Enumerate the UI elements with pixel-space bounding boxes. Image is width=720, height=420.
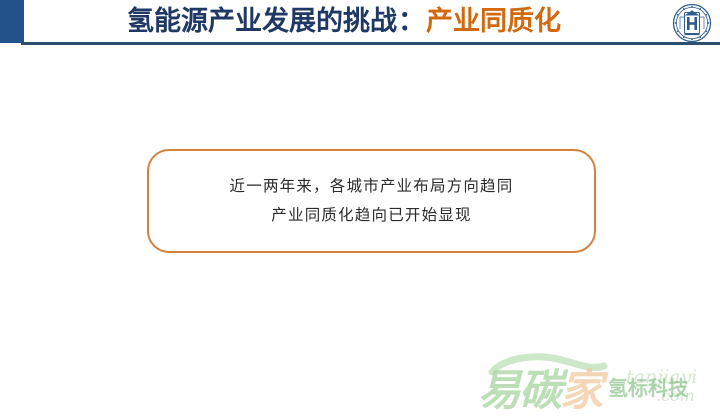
statement-line-2: 产业同质化趋向已开始显现 [271,201,471,230]
header-divider [21,42,720,45]
header-accent-block [0,0,24,43]
statement-line-1: 近一两年来，各城市产业布局方向趋同 [230,172,514,201]
watermark-domain-text: tanjiayi [626,366,697,388]
title-separator: ： [397,8,426,35]
page-title: 氢能源产业发展的挑战 ： 产业同质化 [24,0,664,42]
title-main-text: 氢能源产业发展的挑战 [127,8,397,35]
slide-canvas: 氢能源产业发展的挑战 ： 产业同质化 [0,0,720,420]
university-seal-logo [672,3,712,43]
watermark-domain-suffix: .com [656,386,695,405]
watermark-swoosh-icon [488,352,608,378]
watermark-brand-secondary: 氢标科技 [608,372,688,401]
title-accent-text: 产业同质化 [426,8,561,35]
watermark-brand-primary: 易碳家 [478,356,601,418]
watermark-group: 易碳家 tanjiayi .com 氢标科技 [478,352,720,420]
statement-callout-box: 近一两年来，各城市产业布局方向趋同 产业同质化趋向已开始显现 [147,149,596,253]
watermark-brand-primary-text: 易碳家 [478,366,601,416]
slide-header: 氢能源产业发展的挑战 ： 产业同质化 [0,0,720,50]
